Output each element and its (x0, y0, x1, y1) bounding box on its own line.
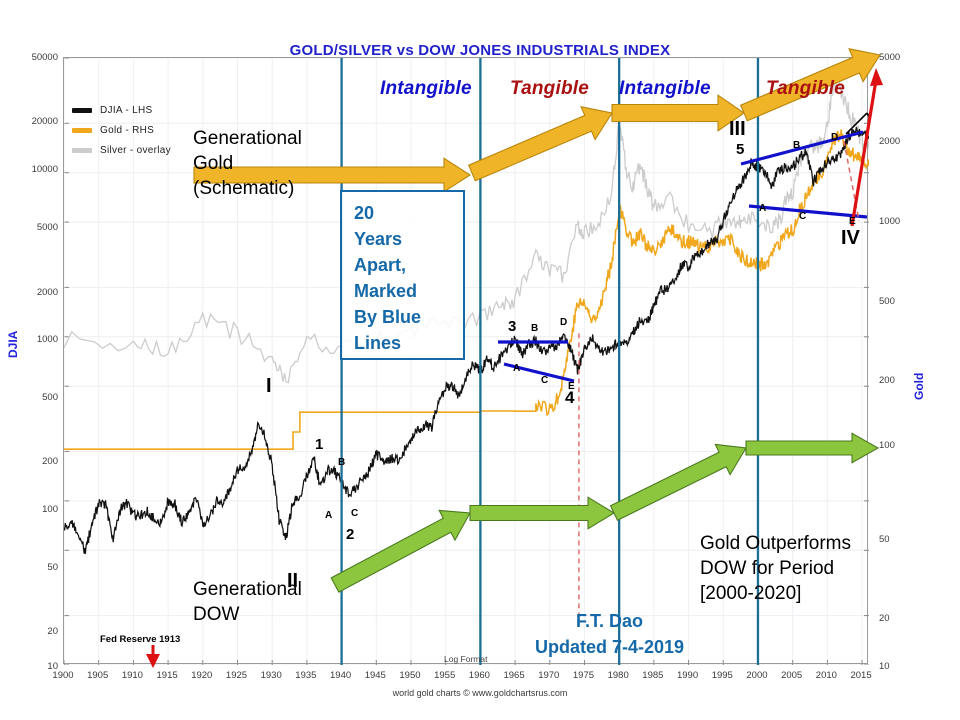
x-tick-label: 1935 (290, 670, 322, 681)
wave-label-4: 4 (565, 388, 574, 408)
annotation-line: Gold Outperforms (700, 531, 851, 556)
x-tick-label: 1995 (706, 670, 738, 681)
x-tick-label: 1915 (151, 670, 183, 681)
wave-label-e: E (849, 216, 856, 227)
wave-label-2: 2 (346, 526, 354, 543)
cycle-label-tangible-2: Tangible (766, 78, 845, 100)
wave-label-a: A (759, 203, 766, 214)
annotation-generational-dow: Generational DOW (193, 577, 302, 627)
note-line: Apart, (354, 252, 421, 278)
cycle-label-intangible-1: Intangible (380, 78, 472, 100)
fed-reserve-label: Fed Reserve 1913 (100, 634, 180, 645)
x-tick-label: 1940 (325, 670, 357, 681)
x-tick-label: 1980 (602, 670, 634, 681)
x-tick-label: 1930 (255, 670, 287, 681)
annotation-line: Generational (193, 577, 302, 602)
credit-line: Updated 7-4-2019 (535, 634, 684, 660)
annotation-line: [2000-2020] (700, 581, 851, 606)
note-line: 20 (354, 200, 421, 226)
x-tick-label: 1920 (186, 670, 218, 681)
x-tick-label: 1975 (567, 670, 599, 681)
credit-line: F.T. Dao (535, 608, 684, 634)
x-tick-label: 2005 (776, 670, 808, 681)
wave-label-c: C (799, 211, 806, 222)
wave-label-a: A (325, 510, 332, 521)
wave-label-3: 3 (508, 318, 516, 335)
chart-legend: DJIA - LHS Gold - RHS Silver - overlay (72, 100, 171, 160)
source-credit: world gold charts © www.goldchartsrus.co… (0, 688, 960, 698)
log-format-label: Log Format (444, 654, 487, 664)
x-tick-label: 1925 (220, 670, 252, 681)
wave-label-1: 1 (315, 436, 323, 453)
author-credit: F.T. Dao Updated 7-4-2019 (535, 608, 684, 660)
wave-label-d: D (831, 132, 838, 143)
x-tick-label: 1960 (463, 670, 495, 681)
blue-note-box-text: 20 Years Apart, Marked By Blue Lines (354, 200, 421, 356)
note-line: Lines (354, 330, 421, 356)
x-tick-label: 1985 (637, 670, 669, 681)
wave-label-b: B (793, 140, 800, 151)
x-tick-label: 2015 (845, 670, 877, 681)
annotation-line: DOW for Period (700, 556, 851, 581)
wave-label-5: 5 (736, 141, 744, 158)
cycle-label-tangible-1: Tangible (510, 78, 589, 100)
legend-item: Silver - overlay (72, 140, 171, 160)
x-tick-label: 1955 (429, 670, 461, 681)
note-line: By Blue (354, 304, 421, 330)
wave-label-iv: IV (841, 227, 860, 250)
wave-label-c: C (541, 375, 548, 386)
wave-label-c: C (351, 508, 358, 519)
wave-label-b: B (338, 457, 345, 468)
blue-note-box: 20 Years Apart, Marked By Blue Lines (340, 190, 465, 360)
legend-swatch-gold (72, 128, 92, 133)
x-tick-label: 2010 (810, 670, 842, 681)
note-line: Years (354, 226, 421, 252)
note-line: Marked (354, 278, 421, 304)
wave-label-d: D (560, 317, 567, 328)
wave-label-i: I (266, 375, 272, 398)
annotation-line: Gold (193, 151, 302, 176)
x-tick-label: 1945 (359, 670, 391, 681)
legend-label: DJIA - LHS (100, 105, 152, 116)
annotation-line: DOW (193, 602, 302, 627)
cycle-label-intangible-2: Intangible (619, 78, 711, 100)
legend-swatch-djia (72, 108, 92, 113)
legend-item: Gold - RHS (72, 120, 171, 140)
wave-label-a: A (513, 363, 520, 374)
legend-label: Silver - overlay (100, 145, 171, 156)
x-tick-label: 1905 (82, 670, 114, 681)
wave-label-ii: II (287, 570, 298, 593)
x-tick-label: 1900 (47, 670, 79, 681)
annotation-line: Generational (193, 126, 302, 151)
legend-label: Gold - RHS (100, 125, 154, 136)
legend-item: DJIA - LHS (72, 100, 171, 120)
annotation-generational-gold: Generational Gold (Schematic) (193, 126, 302, 201)
legend-swatch-silver (72, 148, 92, 153)
x-tick-label: 1970 (533, 670, 565, 681)
wave-label-b: B (531, 323, 538, 334)
x-tick-label: 1910 (116, 670, 148, 681)
chart-screenshot: GOLD/SILVER vs DOW JONES INDUSTRIALS IND… (0, 0, 960, 720)
x-tick-label: 2000 (741, 670, 773, 681)
annotation-line: (Schematic) (193, 176, 302, 201)
annotation-gold-outperforms: Gold Outperforms DOW for Period [2000-20… (700, 531, 851, 606)
x-tick-label: 1950 (394, 670, 426, 681)
wave-label-iii: III (729, 118, 746, 141)
x-tick-label: 1990 (672, 670, 704, 681)
x-tick-label: 1965 (498, 670, 530, 681)
